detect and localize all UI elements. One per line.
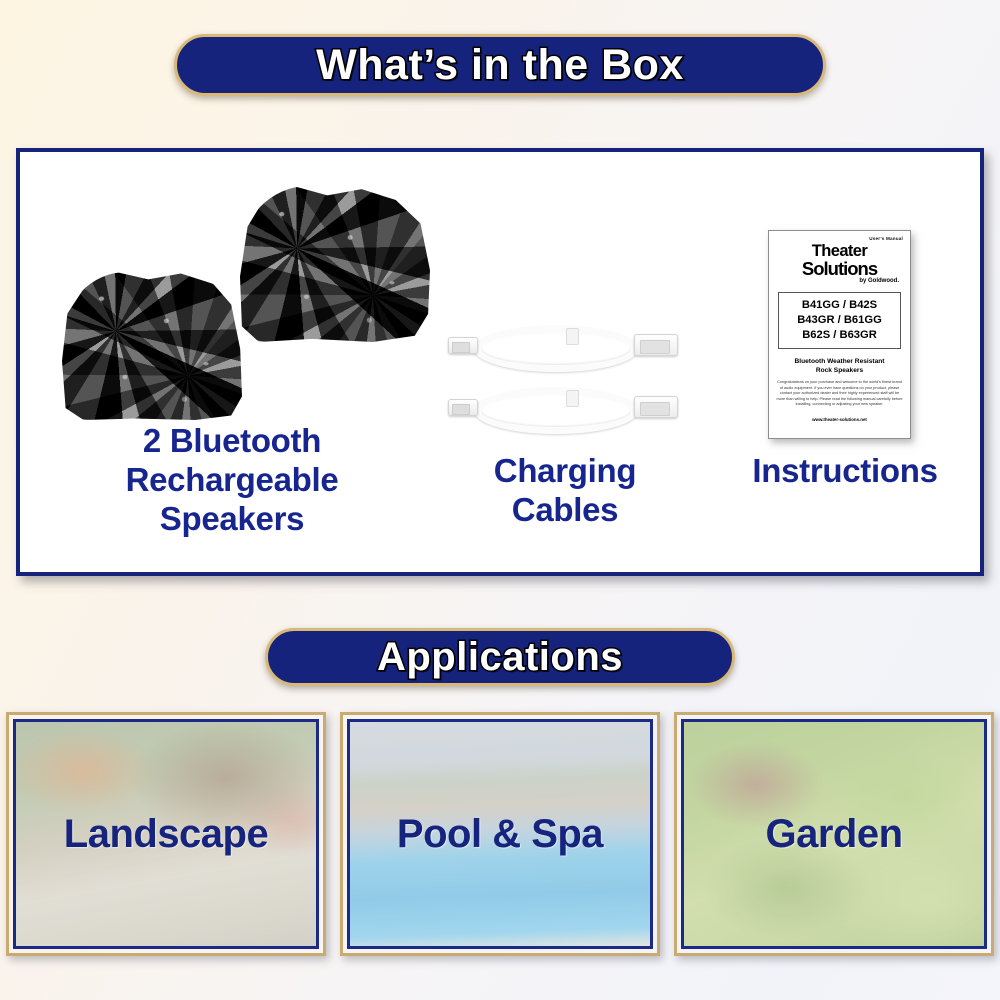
cable-loop xyxy=(474,326,638,372)
manual-booklet-icon: User’s Manual Theater Solutions by Goldw… xyxy=(768,230,911,439)
applications-banner: Applications xyxy=(265,628,735,686)
speakers-caption: 2 Bluetooth Rechargeable Speakers xyxy=(32,422,432,539)
tile-inner: Landscape xyxy=(13,719,319,949)
micro-usb-plug xyxy=(448,337,478,354)
cable-loop xyxy=(474,388,638,434)
manual-model-row: B41GG / B42S xyxy=(783,298,896,313)
rock-speaker-rear xyxy=(240,186,430,342)
whats-in-the-box-banner: What’s in the Box xyxy=(174,34,826,96)
usb-cable-2 xyxy=(448,386,678,444)
manual-website-url: www.theater-solutions.net xyxy=(776,417,903,422)
manual-brand-line2: Solutions xyxy=(776,260,903,278)
cable-tie xyxy=(566,390,579,407)
rock-speaker-front xyxy=(62,272,242,420)
instructions-caption: Instructions xyxy=(710,452,980,491)
manual-brand-logo: Theater Solutions by Goldwood. xyxy=(776,244,903,284)
application-tile-landscape[interactable]: Landscape xyxy=(6,712,326,956)
box-contents-panel: 2 Bluetooth Rechargeable Speakers Chargi… xyxy=(16,148,984,576)
application-tile-garden[interactable]: Garden xyxy=(674,712,994,956)
usb-cable-1 xyxy=(448,324,678,382)
application-label-landscape: Landscape xyxy=(16,812,316,857)
application-tile-pool-spa[interactable]: Pool & Spa xyxy=(340,712,660,956)
whats-in-the-box-title: What’s in the Box xyxy=(316,41,684,90)
applications-banner-wrap: Applications xyxy=(0,612,1000,686)
manual-users-manual-label: User’s Manual xyxy=(776,236,903,241)
manual-subtitle-line2: Rock Speakers xyxy=(776,366,903,375)
cables-caption: Charging Cables xyxy=(400,452,730,530)
manual-model-box: B41GG / B42S B43GR / B61GG B62S / B63GR xyxy=(778,292,901,348)
usb-a-plug xyxy=(634,396,678,418)
applications-row: Landscape Pool & Spa Garden xyxy=(0,712,1000,960)
manual-body-text: Congratulations on your purchase and wel… xyxy=(776,380,903,408)
box-contents-row: 2 Bluetooth Rechargeable Speakers Chargi… xyxy=(20,152,980,572)
manual-model-row: B43GR / B61GG xyxy=(783,313,896,328)
applications-title: Applications xyxy=(377,635,623,680)
box-banner-wrap: What’s in the Box xyxy=(0,0,1000,96)
tile-inner: Pool & Spa xyxy=(347,719,653,949)
usb-a-plug xyxy=(634,334,678,356)
usb-cable-icon xyxy=(448,324,678,444)
micro-usb-plug xyxy=(448,399,478,416)
rock-speaker-icon xyxy=(40,174,440,424)
tile-inner: Garden xyxy=(681,719,987,949)
application-label-pool-spa: Pool & Spa xyxy=(350,812,650,857)
manual-model-row: B62S / B63GR xyxy=(783,328,896,343)
cable-tie xyxy=(566,328,579,345)
manual-subtitle: Bluetooth Weather Resistant Rock Speaker… xyxy=(776,357,903,375)
manual-brand-line3: by Goldwood. xyxy=(776,278,903,284)
manual-subtitle-line1: Bluetooth Weather Resistant xyxy=(776,357,903,366)
application-label-garden: Garden xyxy=(684,812,984,857)
